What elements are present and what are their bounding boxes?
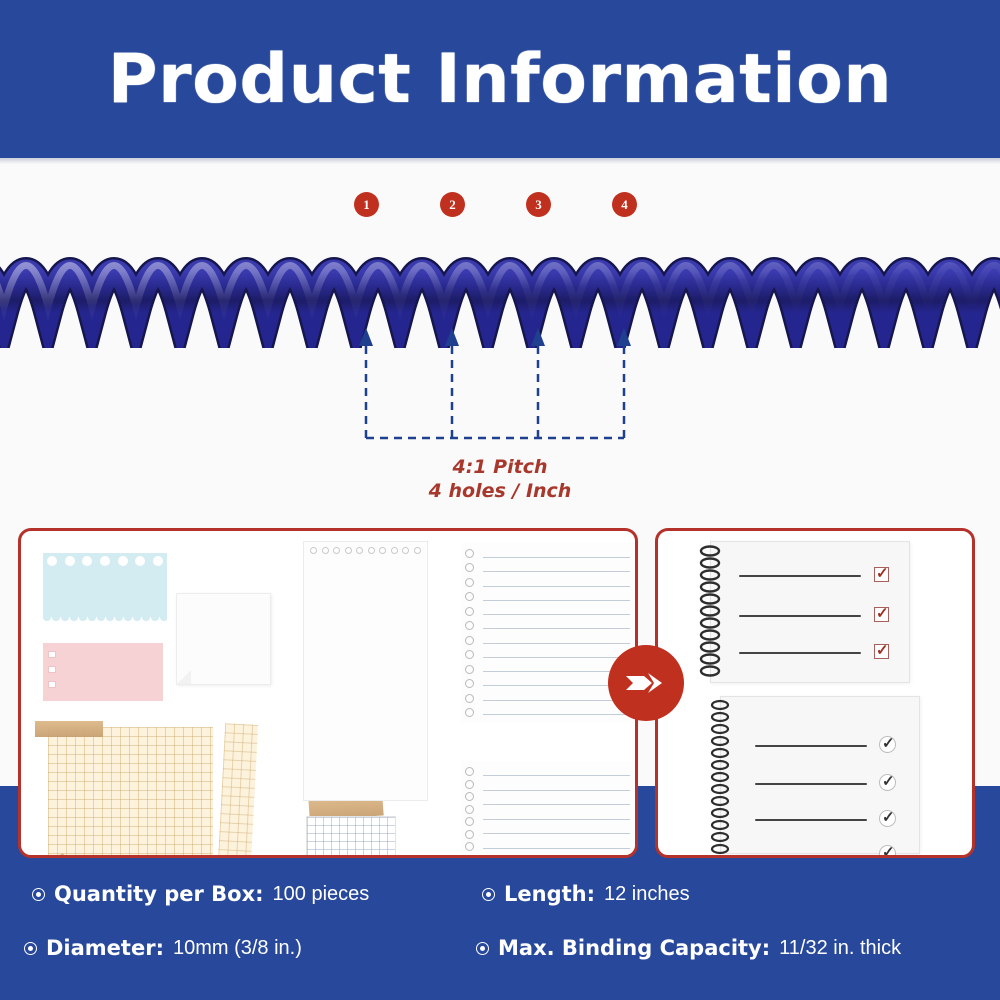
checklist-line bbox=[739, 615, 861, 617]
bullet-icon bbox=[24, 942, 37, 955]
graph-paper-large bbox=[48, 727, 213, 858]
spiral-hole-column bbox=[465, 767, 476, 851]
ruled-lines bbox=[483, 775, 630, 849]
coil-badge-2: 2 bbox=[440, 192, 465, 217]
spec-diameter: Diameter: 10mm (3/8 in.) bbox=[24, 936, 302, 960]
coil-badge-1: 1 bbox=[354, 192, 379, 217]
spec-quantity-per-box: Quantity per Box: 100 pieces bbox=[32, 882, 369, 906]
checklist-line bbox=[739, 575, 861, 577]
checklist-line bbox=[755, 745, 867, 747]
lined-sheet-bottom bbox=[461, 761, 636, 857]
bullet-icon bbox=[482, 888, 495, 901]
spec-value: 10mm (3/8 in.) bbox=[173, 937, 302, 960]
spiral-binding-icon bbox=[697, 542, 723, 684]
spec-label: Length: bbox=[504, 882, 595, 906]
checkbox-checked[interactable] bbox=[879, 810, 896, 827]
bound-notebook-bottom bbox=[720, 696, 920, 854]
spec-length: Length: 12 inches bbox=[482, 882, 690, 906]
loose-sheets-panel bbox=[18, 528, 638, 858]
checkbox-checked[interactable] bbox=[879, 774, 896, 791]
checkbox-checked[interactable] bbox=[879, 845, 896, 858]
spec-value: 11/32 in. thick bbox=[779, 937, 901, 960]
bullet-icon bbox=[476, 942, 489, 955]
torn-edge bbox=[43, 617, 167, 624]
page-header: Product Information bbox=[0, 0, 1000, 158]
spiral-hole-column bbox=[465, 549, 476, 717]
checklist-rows bbox=[48, 651, 56, 696]
plain-white-sheet bbox=[176, 593, 271, 685]
transition-arrow-badge bbox=[608, 645, 684, 721]
graph-paper-strip bbox=[217, 723, 258, 858]
bound-notebooks-panel bbox=[655, 528, 975, 858]
spec-value: 100 pieces bbox=[273, 883, 370, 906]
pitch-annotation: 4:1 Pitch 4 holes / Inch bbox=[0, 455, 1000, 503]
checkbox-checked[interactable] bbox=[879, 736, 896, 753]
small-grid-sheet bbox=[306, 816, 396, 858]
checklist-line bbox=[755, 783, 867, 785]
tall-notepad-sheet bbox=[303, 541, 428, 801]
spec-label: Quantity per Box: bbox=[54, 882, 264, 906]
spec-label: Max. Binding Capacity: bbox=[498, 936, 770, 960]
checkbox-checked[interactable] bbox=[874, 607, 889, 622]
spec-max-binding-capacity: Max. Binding Capacity: 11/32 in. thick bbox=[476, 936, 901, 960]
pitch-measurement-lines bbox=[330, 324, 670, 444]
checklist-line bbox=[739, 652, 861, 654]
coil-badge-3: 3 bbox=[526, 192, 551, 217]
bound-notebook-top bbox=[710, 541, 910, 683]
checklist-line bbox=[755, 819, 867, 821]
blue-torn-note bbox=[43, 553, 167, 621]
punched-holes bbox=[47, 556, 163, 568]
tape-strip-1 bbox=[35, 721, 103, 737]
checkbox-checked[interactable] bbox=[874, 567, 889, 582]
notepad-top-holes bbox=[310, 547, 421, 556]
spiral-binding-icon bbox=[707, 697, 733, 855]
checkbox-checked[interactable] bbox=[874, 644, 889, 659]
page-title: Product Information bbox=[108, 40, 892, 119]
pitch-ratio-text: 4:1 Pitch bbox=[0, 455, 1000, 479]
double-chevron-right-icon bbox=[624, 668, 668, 698]
pitch-holes-text: 4 holes / Inch bbox=[0, 479, 1000, 503]
spec-label: Diameter: bbox=[46, 936, 164, 960]
bullet-icon bbox=[32, 888, 45, 901]
pink-checklist-note bbox=[43, 643, 163, 701]
coil-badge-4: 4 bbox=[612, 192, 637, 217]
spec-value: 12 inches bbox=[604, 883, 690, 906]
